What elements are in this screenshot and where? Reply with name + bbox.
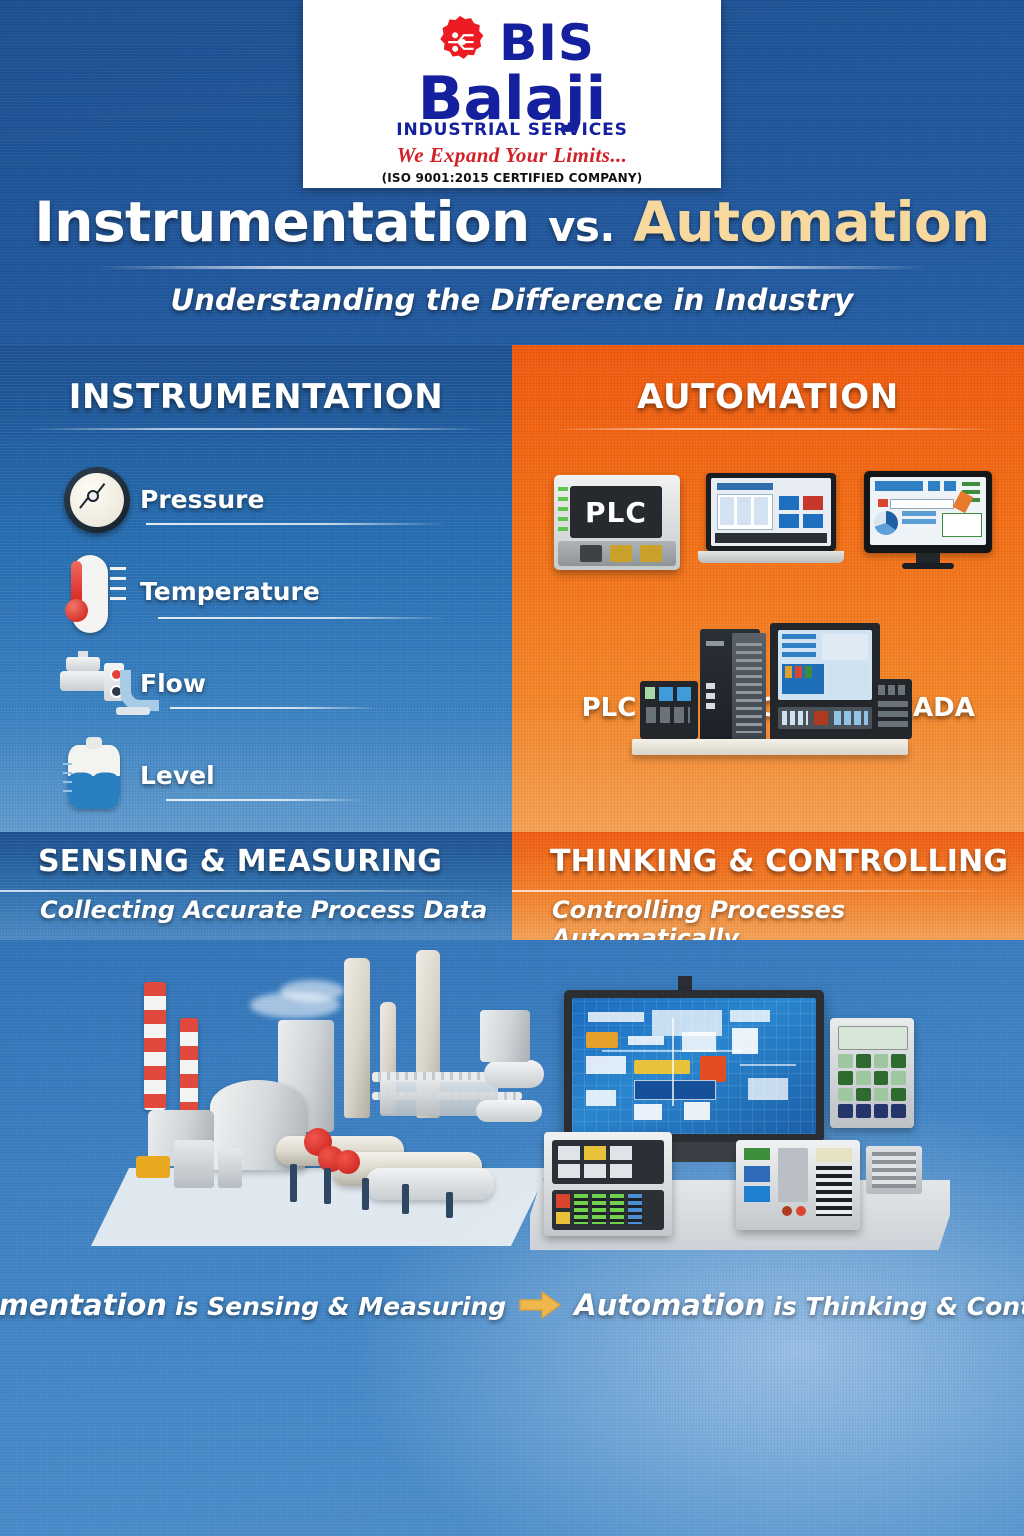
footer-summary: Instrumentation is Sensing & Measuring A… [0,1288,1024,1322]
band-subheading-thinking: Controlling Processes Automatically [512,896,1024,940]
title-divider [97,266,927,269]
automation-heading: AUTOMATION [512,377,1024,417]
footer-left-strong: Instrumentation [0,1288,167,1322]
hvac-unit [866,1146,922,1194]
title-part-automation: Automation [633,190,989,254]
server-rack-hmi-icon [632,623,908,763]
instrumentation-heading-divider [28,428,484,430]
industrial-plant-illustration [80,940,550,1260]
band-divider-left [0,890,502,892]
temperature-underline [158,617,446,619]
list-item-flow[interactable]: Flow [58,639,478,731]
footer-right-rest: is Thinking & Controlling [773,1292,1024,1321]
right-arrow-icon [518,1290,562,1320]
list-item-temperature[interactable]: Temperature [58,547,478,639]
dcs-laptop-icon[interactable] [698,473,844,573]
title-part-instrumentation: Instrumentation [34,190,529,254]
company-logo-card: BIS Balaji INDUSTRIAL SERVICES We Expand… [303,0,721,188]
logo-bis-text: BIS [499,18,595,68]
thinking-controlling-band: THINKING & CONTROLLING Controlling Proce… [512,832,1024,940]
control-room-illustration [530,950,950,1250]
logo-iso-certification: (ISO 9001:2015 CERTIFIED COMPANY) [382,171,643,185]
flow-underline [170,707,380,709]
pressure-gauge-icon [58,461,134,541]
level-tank-icon [58,737,134,817]
band-subheading-sensing: Collecting Accurate Process Data [0,896,512,924]
band-heading-thinking: THINKING & CONTROLLING [512,844,1024,879]
instrumentation-item-list: Pressure Temperature [58,455,478,823]
footer-left-rest: is Sensing & Measuring [175,1292,506,1321]
page-title-block: Instrumentation vs. Automation Understan… [0,192,1024,317]
automation-device-row: PLC [512,457,1024,602]
pressure-underline [146,523,446,525]
footer-left-statement: Instrumentation is Sensing & Measuring [0,1288,506,1322]
plc-controller-icon[interactable]: PLC [554,475,680,570]
plc-screen-text: PLC [585,496,647,529]
page-subtitle: Understanding the Difference in Industry [0,283,1024,317]
keypad-terminal [830,1018,914,1128]
instrumentation-heading: INSTRUMENTATION [0,377,512,417]
item-label-temperature: Temperature [140,577,320,610]
item-label-pressure: Pressure [140,485,264,518]
band-divider-right [512,890,1014,892]
right-control-cabinet [736,1140,860,1230]
logo-industrial-services-text: INDUSTRIAL SERVICES [396,120,628,140]
title-connector-vs: vs. [548,202,615,251]
logo-tagline: We Expand Your Limits... [397,143,628,168]
list-item-pressure[interactable]: Pressure [58,455,478,547]
automation-heading-divider [552,428,996,430]
band-heading-sensing: SENSING & MEASURING [0,844,512,879]
thermometer-icon [58,553,134,633]
left-control-cabinet [544,1132,672,1236]
item-label-flow: Flow [140,669,206,702]
footer-right-statement: Automation is Thinking & Controlling [574,1288,1024,1322]
flow-valve-icon [58,645,134,725]
item-label-level: Level [140,761,215,794]
sensing-measuring-band: SENSING & MEASURING Collecting Accurate … [0,832,512,940]
list-item-level[interactable]: Level [58,731,478,823]
page-title: Instrumentation vs. Automation [0,192,1024,257]
level-underline [166,799,366,801]
scada-monitor-icon[interactable] [864,471,992,577]
footer-right-strong: Automation [574,1288,765,1322]
